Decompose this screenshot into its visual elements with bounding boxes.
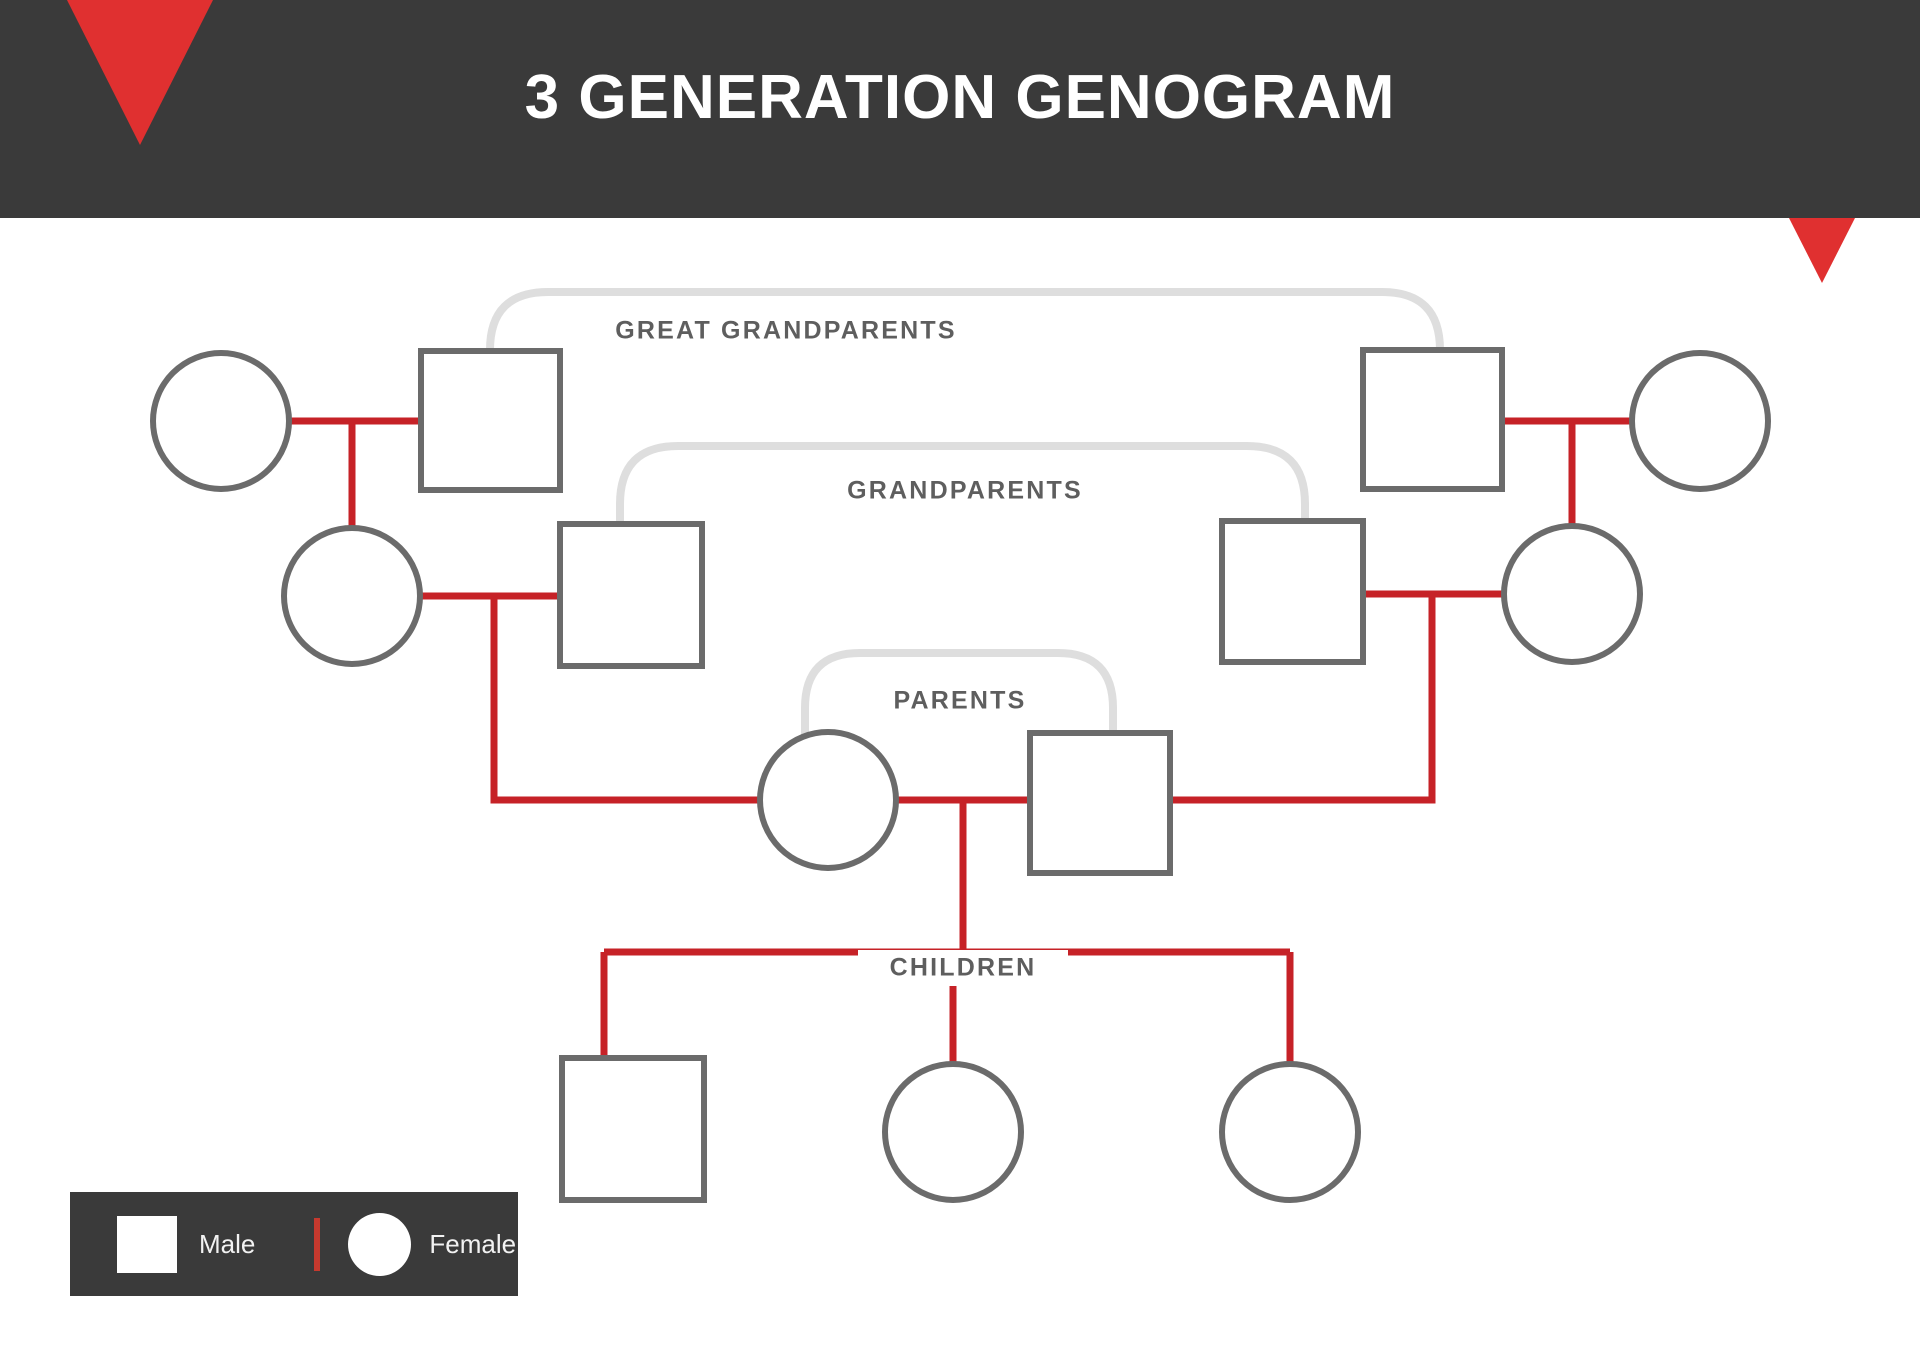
person-node-grandmother-right[interactable] — [1504, 526, 1640, 662]
legend: Male Female — [70, 1192, 518, 1296]
person-node-great-grandmother-right[interactable] — [1632, 353, 1768, 489]
person-node-great-grandfather-right[interactable] — [1363, 350, 1502, 489]
label-grandparents: GRANDPARENTS — [847, 477, 1083, 505]
legend-female-label: Female — [429, 1229, 516, 1260]
person-node-great-grandfather-left[interactable] — [421, 351, 560, 490]
person-node-father[interactable] — [1030, 733, 1170, 873]
person-node-mother[interactable] — [760, 732, 896, 868]
legend-male-label: Male — [199, 1229, 255, 1260]
person-node-great-grandmother-left[interactable] — [153, 353, 289, 489]
genogram-diagram: GREAT GRANDPARENTS GRANDPARENTS PARENTS … — [0, 0, 1920, 1360]
person-node-child-3[interactable] — [1222, 1064, 1358, 1200]
label-children: CHILDREN — [890, 954, 1037, 982]
person-node-grandmother-left[interactable] — [284, 528, 420, 664]
vertical-divider-icon — [314, 1218, 320, 1271]
label-great-grandparents: GREAT GRANDPARENTS — [615, 317, 956, 345]
person-node-grandfather-left[interactable] — [560, 524, 702, 666]
person-node-child-1[interactable] — [562, 1058, 704, 1200]
label-parents: PARENTS — [893, 687, 1026, 715]
circle-icon — [348, 1213, 411, 1276]
person-node-child-2[interactable] — [885, 1064, 1021, 1200]
person-node-grandfather-right[interactable] — [1222, 521, 1363, 662]
square-icon — [117, 1216, 177, 1273]
